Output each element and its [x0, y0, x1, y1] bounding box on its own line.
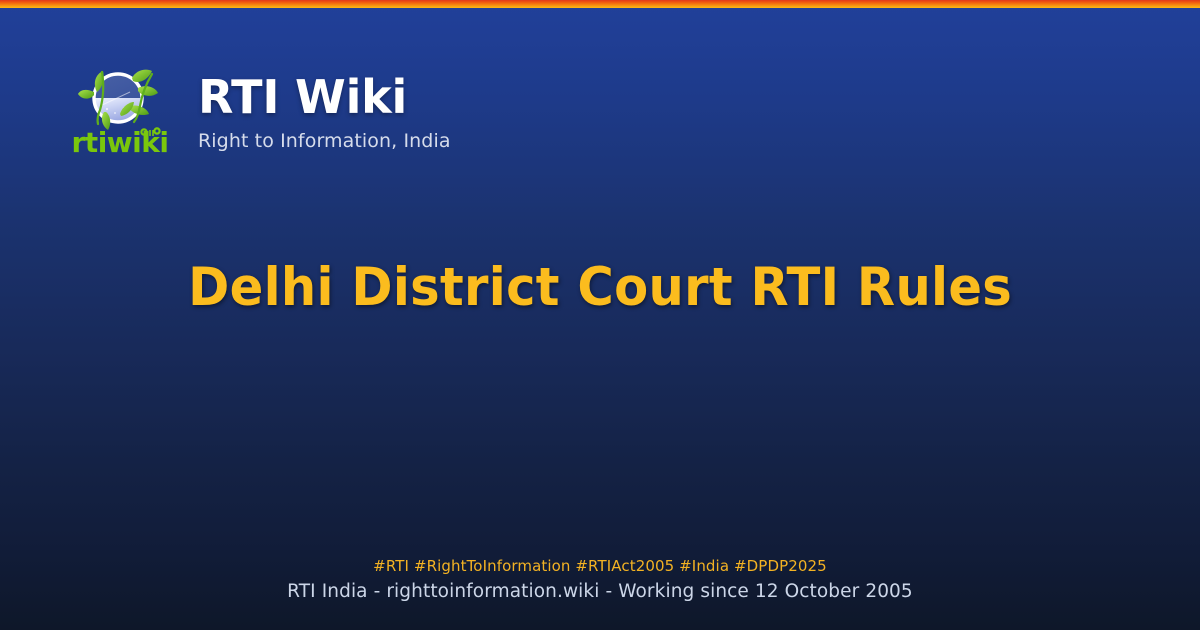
footer-credit-line: RTI India - righttoinformation.wiki - Wo…: [0, 580, 1200, 604]
hashtag-list: #RTI #RightToInformation #RTIAct2005 #In…: [0, 556, 1200, 576]
site-title: RTI Wiki: [198, 74, 451, 121]
page-title: Delhi District Court RTI Rules: [188, 258, 1012, 319]
site-header: rtiwiki RTI Wiki Right to Information, I…: [60, 62, 451, 162]
top-accent-bar: [0, 0, 1200, 8]
card-footer: #RTI #RightToInformation #RTIAct2005 #In…: [0, 556, 1200, 604]
share-card: rtiwiki RTI Wiki Right to Information, I…: [0, 0, 1200, 630]
site-tagline: Right to Information, India: [198, 130, 451, 153]
brand-text-block: RTI Wiki Right to Information, India: [198, 72, 451, 153]
main-title-container: Delhi District Court RTI Rules: [0, 258, 1200, 319]
rtiwiki-globe-leaf-logo[interactable]: rtiwiki: [60, 62, 180, 162]
